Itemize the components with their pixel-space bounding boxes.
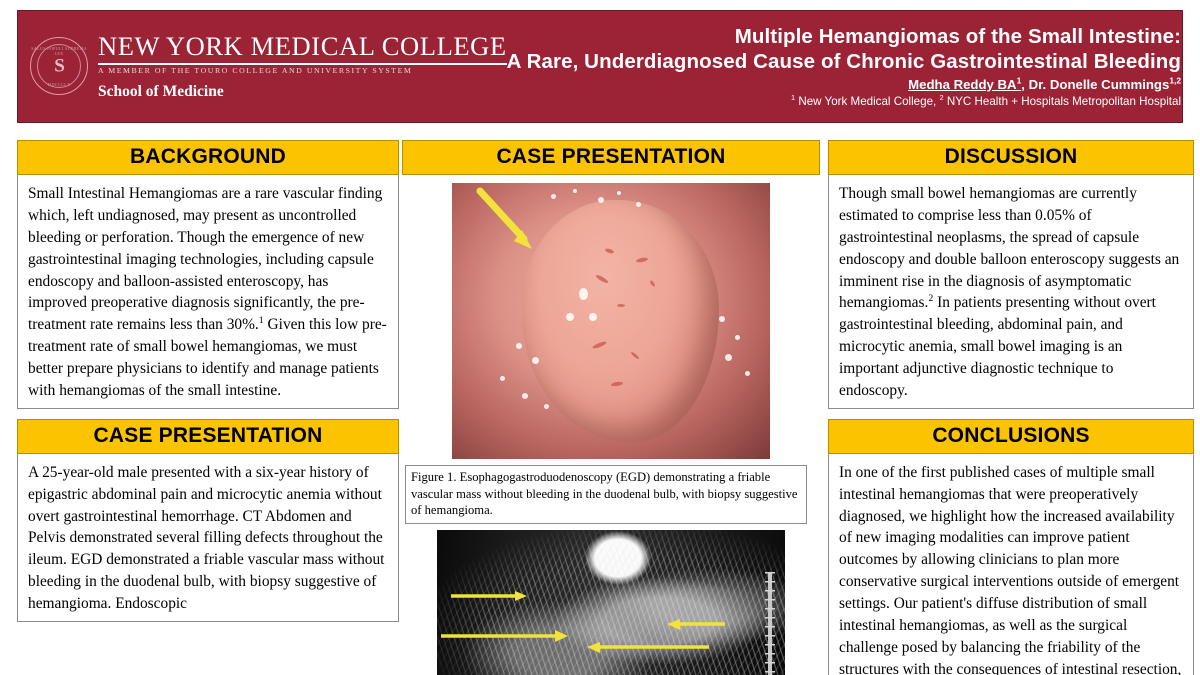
background-paragraph: Small Intestinal Hemangiomas are a rare …: [28, 183, 388, 402]
poster-canvas: SALUS POPULI SUPREMA LEX S MDCCCLX NEW Y…: [0, 0, 1200, 675]
poster-title-line-1: Multiple Hemangiomas of the Small Intest…: [507, 24, 1181, 49]
university-affiliation-line: A MEMBER OF THE TOURO COLLEGE AND UNIVER…: [98, 67, 507, 75]
section-heading-case-presentation-center: CASE PRESENTATION: [402, 140, 820, 175]
section-background: BACKGROUND Small Intestinal Hemangiomas …: [17, 140, 399, 409]
section-conclusions: CONCLUSIONS In one of the first publishe…: [828, 419, 1194, 675]
section-heading-case-presentation-left: CASE PRESENTATION: [17, 419, 399, 454]
affiliation-list: 1 New York Medical College, 2 NYC Health…: [507, 95, 1181, 109]
seal-ring-bottom-text: MDCCCLX: [31, 82, 87, 87]
poster-header: SALUS POPULI SUPREMA LEX S MDCCCLX NEW Y…: [17, 10, 1183, 123]
section-body-background: Small Intestinal Hemangiomas are a rare …: [17, 175, 399, 409]
endoscopy-image: [452, 183, 770, 459]
university-name: NEW YORK MEDICAL COLLEGE: [98, 33, 507, 61]
left-column: BACKGROUND Small Intestinal Hemangiomas …: [17, 140, 399, 622]
discussion-text-part1: Though small bowel hemangiomas are curre…: [839, 185, 1179, 311]
figure-1-wrapper: Figure 1. Esophagogastroduodenoscopy (EG…: [402, 183, 820, 524]
pointer-arrow-icon: [587, 642, 709, 653]
pointer-arrow-icon: [451, 591, 527, 601]
center-column: CASE PRESENTATION: [402, 140, 820, 675]
author-secondary: , Dr. Donelle Cummings: [1021, 77, 1169, 92]
figure-1-annotation-layer: [452, 183, 770, 459]
author-secondary-affil-marker: 1,2: [1169, 76, 1181, 86]
author-list: Medha Reddy BA1, Dr. Donelle Cummings1,2: [507, 77, 1181, 94]
poster-title-line-2: A Rare, Underdiagnosed Cause of Chronic …: [507, 49, 1181, 74]
poster-title-block: Multiple Hemangiomas of the Small Intest…: [507, 24, 1195, 109]
figure-1-caption: Figure 1. Esophagogastroduodenoscopy (EG…: [405, 465, 807, 524]
pointer-arrow-icon: [441, 630, 568, 642]
section-heading-background: BACKGROUND: [17, 140, 399, 175]
right-column: DISCUSSION Though small bowel hemangioma…: [828, 140, 1194, 675]
barium-radiograph-image: [437, 530, 785, 675]
case-presentation-paragraph: A 25-year-old male presented with a six-…: [28, 462, 388, 615]
section-body-discussion: Though small bowel hemangiomas are curre…: [828, 175, 1194, 409]
university-seal-icon: SALUS POPULI SUPREMA LEX S MDCCCLX: [30, 37, 88, 95]
section-body-case-presentation-left: A 25-year-old male presented with a six-…: [17, 454, 399, 622]
pointer-arrow-icon: [480, 191, 532, 249]
seal-monogram: S: [31, 57, 87, 76]
conclusions-paragraph: In one of the first published cases of m…: [839, 462, 1183, 675]
institution-text-block: NEW YORK MEDICAL COLLEGE A MEMBER OF THE…: [98, 33, 507, 99]
section-discussion: DISCUSSION Though small bowel hemangioma…: [828, 140, 1194, 409]
brand-divider: [98, 63, 507, 65]
section-heading-discussion: DISCUSSION: [828, 140, 1194, 175]
discussion-paragraph: Though small bowel hemangiomas are curre…: [839, 183, 1183, 402]
pointer-arrow-icon: [667, 619, 725, 630]
section-case-presentation-left: CASE PRESENTATION A 25-year-old male pre…: [17, 419, 399, 622]
affil-text-2: NYC Health + Hospitals Metropolitan Hosp…: [944, 95, 1181, 108]
author-primary: Medha Reddy BA1: [908, 77, 1021, 92]
background-text-main: Small Intestinal Hemangiomas are a rare …: [28, 185, 382, 333]
institution-branding: SALUS POPULI SUPREMA LEX S MDCCCLX NEW Y…: [18, 33, 507, 99]
section-heading-conclusions: CONCLUSIONS: [828, 419, 1194, 454]
affil-text-1: New York Medical College,: [795, 95, 939, 108]
author-primary-name: Medha Reddy BA: [908, 77, 1016, 92]
section-body-conclusions: In one of the first published cases of m…: [828, 454, 1194, 675]
seal-ring-top-text: SALUS POPULI SUPREMA LEX: [31, 46, 87, 56]
school-name: School of Medicine: [98, 84, 507, 100]
figure-2-annotation-layer: [437, 530, 785, 675]
